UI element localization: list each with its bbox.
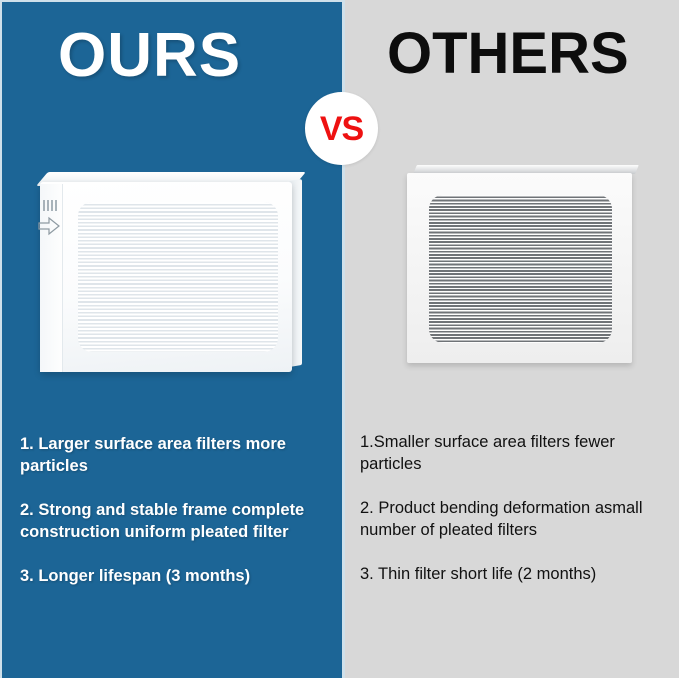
filter-pleat-window — [78, 202, 278, 352]
ours-panel: OURS 1. Larger surface area filters more… — [0, 0, 345, 678]
list-item: 3. Thin filter short life (2 months) — [360, 564, 672, 586]
vs-label: VS — [320, 112, 363, 146]
airflow-arrow-icon — [38, 216, 60, 236]
others-heading: OTHERS — [387, 22, 629, 86]
list-item: 1. Larger surface area filters more part… — [20, 434, 338, 478]
filter-pleat-window — [429, 195, 612, 343]
others-bullet-list: 1.Smaller surface area filters fewer par… — [360, 432, 672, 608]
ours-filter-image — [32, 172, 302, 377]
list-item: 2. Strong and stable frame complete cons… — [20, 500, 338, 544]
vs-badge: VS — [305, 92, 378, 165]
list-item: 2. Product bending deformation asmall nu… — [360, 498, 672, 542]
ours-bullet-list: 1. Larger surface area filters more part… — [20, 434, 338, 610]
list-item: 1.Smaller surface area filters fewer par… — [360, 432, 672, 476]
list-item: 3. Longer lifespan (3 months) — [20, 566, 338, 588]
others-filter-image — [407, 165, 640, 370]
filter-left-face — [40, 184, 63, 372]
ours-heading: OURS — [58, 22, 241, 90]
pleat-lines — [429, 195, 612, 343]
pleat-lines — [78, 202, 278, 352]
comparison-infographic: OURS 1. Larger surface area filters more… — [0, 0, 679, 678]
orientation-mark-icon — [43, 200, 57, 211]
